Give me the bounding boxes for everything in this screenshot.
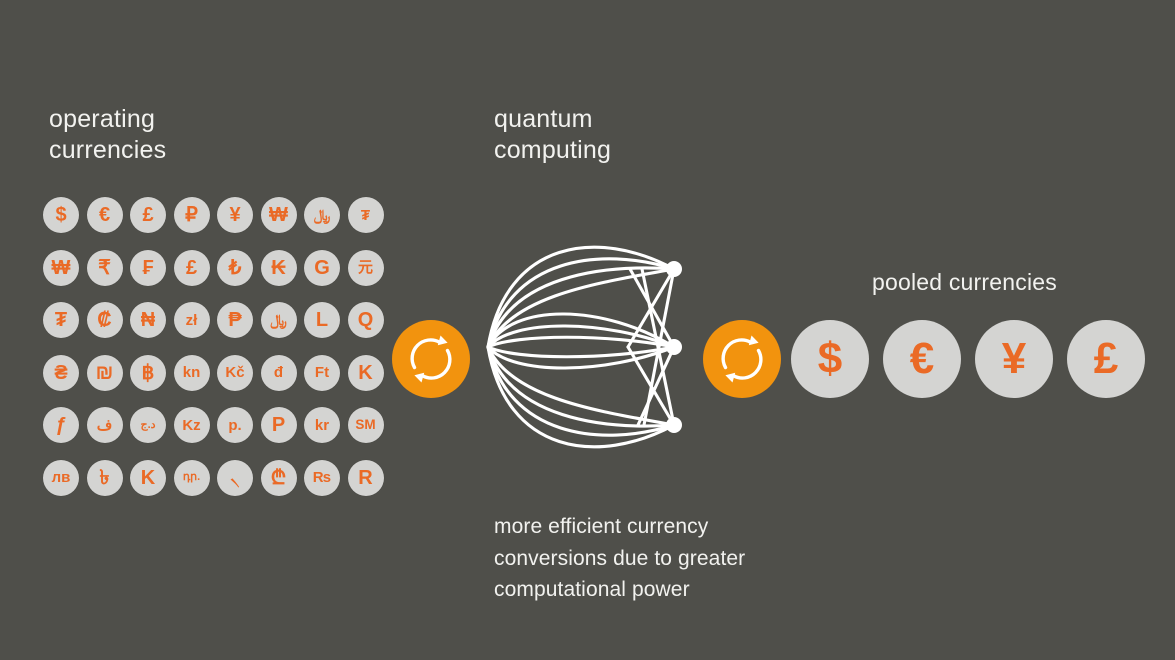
currency-coin: ₪: [87, 355, 123, 391]
currency-coin: ₮: [43, 302, 79, 338]
currency-coin: 元: [348, 250, 384, 286]
currency-coin: K: [130, 460, 166, 496]
currency-coin: Kč: [217, 355, 253, 391]
refresh-cycle-icon[interactable]: [392, 320, 470, 398]
currency-coin: ₹: [87, 250, 123, 286]
currency-coin: G: [304, 250, 340, 286]
currency-coin: SM: [348, 407, 384, 443]
currency-coin: ₩: [261, 197, 297, 233]
page-title-operating-currencies: operating currencies: [49, 104, 166, 166]
currency-coin: ف: [87, 407, 123, 443]
currency-coin: R: [348, 460, 384, 496]
currency-coin: P: [261, 407, 297, 443]
currency-coin: €: [87, 197, 123, 233]
currency-coin: đ: [261, 355, 297, 391]
currency-coin: ₾: [261, 460, 297, 496]
pooled-coin: £: [1067, 320, 1145, 398]
currency-coin: $: [43, 197, 79, 233]
currency-coin: zł: [174, 302, 210, 338]
currency-coin: ﷼: [261, 302, 297, 338]
currency-coin: p.: [217, 407, 253, 443]
currency-coin: Ft: [304, 355, 340, 391]
currency-coin: դր.: [174, 460, 210, 496]
currency-coin: ﷼: [304, 197, 340, 233]
currency-coin: kn: [174, 355, 210, 391]
currency-coin: ৲: [217, 460, 253, 496]
currency-coin: ₺: [217, 250, 253, 286]
currency-coin: ¥: [217, 197, 253, 233]
page-title-quantum-computing: quantum computing: [494, 104, 611, 166]
caption-efficiency-text: more efficient currency conversions due …: [494, 511, 824, 606]
currency-coin: ₩: [43, 250, 79, 286]
label-pooled-currencies: pooled currencies: [872, 268, 1057, 296]
currency-coin: Kz: [174, 407, 210, 443]
currency-symbol-grid: $€£₽¥₩﷼₮₩₹₣£₺₭G元₮₡₦zł₱﷼LQ₴₪฿knKčđFtKƒفد.…: [43, 197, 390, 496]
currency-coin: лв: [43, 460, 79, 496]
currency-coin: ₭: [261, 250, 297, 286]
refresh-cycle-icon[interactable]: [703, 320, 781, 398]
pooled-coin: €: [883, 320, 961, 398]
currency-coin: £: [130, 197, 166, 233]
currency-coin: ₱: [217, 302, 253, 338]
currency-coin: ₽: [174, 197, 210, 233]
currency-coin: ฿: [130, 355, 166, 391]
currency-coin: ₣: [130, 250, 166, 286]
currency-coin: Q: [348, 302, 384, 338]
currency-coin: ƒ: [43, 407, 79, 443]
currency-coin: K: [348, 355, 384, 391]
currency-coin: ₮: [348, 197, 384, 233]
currency-coin: ₴: [43, 355, 79, 391]
pooled-coin: ¥: [975, 320, 1053, 398]
currency-coin: ₡: [87, 302, 123, 338]
currency-coin: £: [174, 250, 210, 286]
currency-coin: ৳: [87, 460, 123, 496]
currency-coin: ₨: [304, 460, 340, 496]
currency-coin: ₦: [130, 302, 166, 338]
currency-coin: د.ج: [130, 407, 166, 443]
slide-canvas: operating currencies quantum computing p…: [0, 0, 1175, 660]
pooled-coin: $: [791, 320, 869, 398]
currency-coin: L: [304, 302, 340, 338]
currency-coin: kr: [304, 407, 340, 443]
neural-network-fan-icon: [478, 222, 703, 472]
